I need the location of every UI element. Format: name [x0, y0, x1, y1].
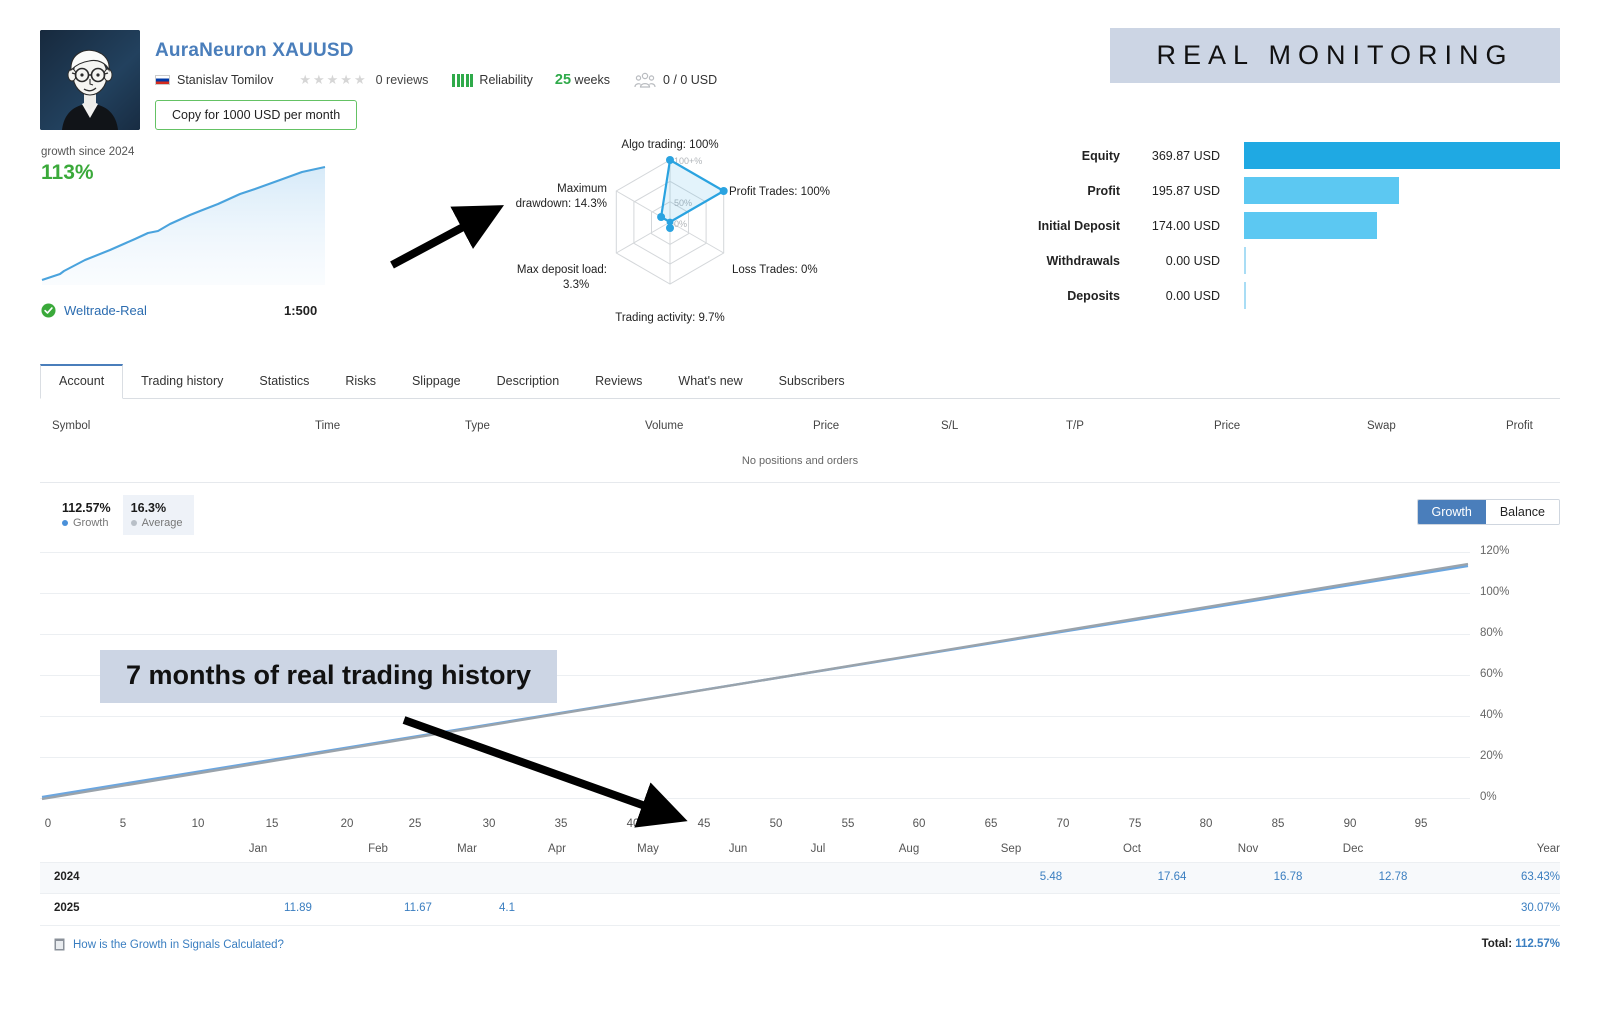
month-may: May [637, 843, 659, 855]
finance-value: 174.00 USD [1120, 219, 1244, 233]
tab-slippage[interactable]: Slippage [394, 365, 479, 398]
cell-2025-total: 30.07% [1521, 902, 1560, 914]
chart-legend: 112.57% Growth 16.3% Average [54, 495, 194, 535]
xtick-75: 75 [1129, 818, 1142, 830]
toggle-growth-button[interactable]: Growth [1418, 500, 1486, 524]
radar-label-trading-activity: Trading activity: 9.7% [615, 312, 725, 324]
radar-label-max-deposit-load-value: 3.3% [563, 279, 589, 291]
finance-bar [1244, 142, 1560, 169]
radar-label-loss-trades: Loss Trades: 0% [732, 264, 818, 276]
help-link-block[interactable]: How is the Growth in Signals Calculated? [54, 938, 284, 951]
legend-growth-name-row: Growth [62, 517, 111, 529]
chart-y-axis: 120% 100% 80% 60% 40% 20% 0% [1480, 537, 1560, 807]
col-volume[interactable]: Volume [645, 420, 683, 432]
finance-label: Withdrawals [1000, 254, 1120, 268]
finance-value: 195.87 USD [1120, 184, 1244, 198]
positions-table-header: Symbol Time Type Volume Price S/L T/P Pr… [40, 420, 1560, 442]
radar-point-algo-trading [666, 156, 674, 164]
table-row: 2024 5.48 17.64 16.78 12.78 63.43% [40, 862, 1560, 893]
finance-summary: Equity 369.87 USD Profit 195.87 USD Init… [1000, 138, 1560, 318]
monthly-growth-table: 2024 5.48 17.64 16.78 12.78 63.43% 2025 … [40, 862, 1560, 924]
reliability-label: Reliability [479, 73, 533, 87]
finance-bar-track [1244, 208, 1560, 243]
legend-average-name: Average [142, 517, 183, 529]
total-label: Total: [1482, 938, 1512, 950]
positions-empty-message: No positions and orders [0, 455, 1600, 467]
col-price-open[interactable]: Price [813, 420, 839, 432]
positions-divider [40, 482, 1560, 483]
tab-reviews[interactable]: Reviews [577, 365, 660, 398]
real-monitoring-banner: REAL MONITORING [1110, 28, 1560, 83]
reviews-count[interactable]: 0 reviews [376, 73, 429, 87]
author-name[interactable]: Stanislav Tomilov [177, 73, 273, 87]
rating-stars-icon: ★★★★★ [299, 72, 367, 88]
table-row: 2025 11.89 11.67 4.1 30.07% [40, 893, 1560, 924]
row-year-2025: 2025 [54, 902, 80, 914]
xtick-70: 70 [1057, 818, 1070, 830]
finance-row-withdrawals: Withdrawals 0.00 USD [1000, 243, 1560, 278]
finance-bar-track [1244, 173, 1560, 208]
subscribers-icon [634, 72, 656, 88]
finance-row-equity: Equity 369.87 USD [1000, 138, 1560, 173]
cell-2024-sep: 5.48 [1040, 871, 1062, 883]
tab-statistics[interactable]: Statistics [241, 365, 327, 398]
signal-page: AuraNeuron XAUUSD Stanislav Tomilov ★★★★… [0, 0, 1600, 1024]
month-nov: Nov [1238, 843, 1258, 855]
finance-label: Equity [1000, 149, 1120, 163]
cell-2025-feb: 11.67 [404, 902, 432, 914]
growth-sparkline [40, 160, 328, 285]
xtick-10: 10 [192, 818, 205, 830]
avatar [40, 30, 140, 130]
weeks-label: weeks [575, 73, 610, 87]
month-jun: Jun [729, 843, 748, 855]
legend-growth-value: 112.57% [62, 501, 111, 515]
cell-2024-dec: 12.78 [1379, 871, 1408, 883]
radar-label-profit-trades: Profit Trades: 100% [729, 186, 830, 198]
xtick-35: 35 [555, 818, 568, 830]
cell-2025-jan: 11.89 [284, 902, 312, 914]
chart-mode-toggle: Growth Balance [1417, 499, 1560, 525]
xtick-0: 0 [45, 818, 51, 830]
xtick-40: 40 [627, 818, 640, 830]
callout-banner: 7 months of real trading history [100, 650, 557, 703]
finance-bar-track [1244, 138, 1560, 173]
legend-average-name-row: Average [131, 517, 183, 529]
radar-label-maximum-drawdown-value: drawdown: 14.3% [516, 198, 607, 210]
finance-value: 0.00 USD [1120, 254, 1244, 268]
finance-label: Deposits [1000, 289, 1120, 303]
month-mar: Mar [457, 843, 477, 855]
finance-row-initial-deposit: Initial Deposit 174.00 USD [1000, 208, 1560, 243]
weeks-active: 25 weeks [555, 72, 610, 88]
chart-x-axis: 0 5 10 15 20 25 30 35 40 45 50 55 60 65 … [40, 818, 1470, 832]
finance-row-deposits: Deposits 0.00 USD [1000, 278, 1560, 313]
row-year-2024: 2024 [54, 871, 80, 883]
xtick-50: 50 [770, 818, 783, 830]
table-footer: How is the Growth in Signals Calculated?… [40, 925, 1560, 964]
radar-label-max-deposit-load: Max deposit load: [517, 264, 607, 276]
col-tp[interactable]: T/P [1066, 420, 1084, 432]
legend-item-average[interactable]: 16.3% Average [123, 495, 195, 535]
real-monitoring-label: REAL MONITORING [1156, 40, 1513, 71]
legend-average-value: 16.3% [131, 501, 183, 515]
col-time[interactable]: Time [315, 420, 340, 432]
xtick-90: 90 [1344, 818, 1357, 830]
finance-bar-track [1244, 278, 1560, 313]
finance-bar [1244, 212, 1377, 239]
growth-since-label: growth since 2024 [41, 146, 134, 158]
ytick-100: 100% [1480, 586, 1509, 598]
ytick-60: 60% [1480, 668, 1503, 680]
xtick-45: 45 [698, 818, 711, 830]
finance-row-profit: Profit 195.87 USD [1000, 173, 1560, 208]
leverage-value: 1:500 [284, 303, 317, 318]
tab-bar: Account Trading history Statistics Risks… [40, 358, 1560, 399]
month-dec: Dec [1343, 843, 1363, 855]
col-type[interactable]: Type [465, 420, 490, 432]
xtick-65: 65 [985, 818, 998, 830]
finance-bar [1244, 282, 1246, 309]
month-aug: Aug [899, 843, 919, 855]
xtick-5: 5 [120, 818, 126, 830]
finance-label: Profit [1000, 184, 1120, 198]
xtick-15: 15 [266, 818, 279, 830]
weeks-value: 25 [555, 72, 571, 88]
ytick-20: 20% [1480, 750, 1503, 762]
tab-trading-history[interactable]: Trading history [123, 365, 241, 398]
cell-2024-nov: 16.78 [1274, 871, 1303, 883]
ytick-0: 0% [1480, 791, 1497, 803]
subscribers-block: 0 / 0 USD [634, 72, 717, 88]
month-sep: Sep [1001, 843, 1021, 855]
finance-value: 0.00 USD [1120, 289, 1244, 303]
month-oct: Oct [1123, 843, 1141, 855]
xtick-20: 20 [341, 818, 354, 830]
tab-risks[interactable]: Risks [327, 365, 394, 398]
book-icon [54, 938, 65, 951]
header-meta: Stanislav Tomilov ★★★★★ 0 reviews Reliab… [155, 72, 717, 88]
radar-label-algo-trading: Algo trading: 100% [621, 139, 718, 151]
xtick-85: 85 [1272, 818, 1285, 830]
tab-account[interactable]: Account [40, 364, 123, 399]
month-jul: Jul [811, 843, 826, 855]
radar-point-trading-activity [666, 224, 674, 232]
callout-text: 7 months of real trading history [126, 660, 531, 690]
month-jan: Jan [249, 843, 268, 855]
legend-average-dot-icon [131, 520, 137, 526]
help-link[interactable]: How is the Growth in Signals Calculated? [73, 939, 284, 951]
xtick-25: 25 [409, 818, 422, 830]
broker-name[interactable]: Weltrade-Real [64, 303, 147, 318]
col-sl[interactable]: S/L [941, 420, 958, 432]
xtick-80: 80 [1200, 818, 1213, 830]
tab-description[interactable]: Description [479, 365, 578, 398]
finance-label: Initial Deposit [1000, 219, 1120, 233]
cell-2024-oct: 17.64 [1158, 871, 1187, 883]
finance-bar [1244, 177, 1399, 204]
radar-ring-label-0: 0% [674, 219, 687, 229]
col-price-current[interactable]: Price [1214, 420, 1240, 432]
chart-month-axis: Jan Feb Mar Apr May Jun Jul Aug Sep Oct … [40, 843, 1470, 857]
tab-subscribers[interactable]: Subscribers [761, 365, 863, 398]
legend-growth-dot-icon [62, 520, 68, 526]
month-axis-year-label: Year [1537, 843, 1560, 855]
col-swap[interactable]: Swap [1367, 420, 1396, 432]
russia-flag-icon [155, 75, 170, 85]
cell-2024-total: 63.43% [1521, 871, 1560, 883]
xtick-95: 95 [1415, 818, 1428, 830]
xtick-60: 60 [913, 818, 926, 830]
reliability-bars-icon [452, 74, 473, 87]
radar-point-maximum-drawdown [657, 213, 665, 221]
month-apr: Apr [548, 843, 566, 855]
month-feb: Feb [368, 843, 388, 855]
total-growth: Total: 112.57% [1482, 938, 1560, 950]
radar-chart: 100+% 50% 0% Algo trading: 100% Profit T… [480, 130, 880, 330]
reliability-indicator: Reliability [452, 73, 533, 87]
legend-growth-name: Growth [73, 517, 108, 529]
copy-subscribe-button[interactable]: Copy for 1000 USD per month [155, 100, 357, 130]
finance-bar-track [1244, 243, 1560, 278]
total-value: 112.57% [1515, 938, 1560, 950]
col-symbol[interactable]: Symbol [52, 420, 90, 432]
xtick-55: 55 [842, 818, 855, 830]
subscribers-count: 0 / 0 USD [663, 73, 717, 87]
verified-check-icon [41, 303, 56, 318]
ytick-120: 120% [1480, 545, 1509, 557]
finance-value: 369.87 USD [1120, 149, 1244, 163]
cell-2025-mar: 4.1 [499, 902, 515, 914]
ytick-80: 80% [1480, 627, 1503, 639]
toggle-balance-button[interactable]: Balance [1486, 500, 1559, 524]
ytick-40: 40% [1480, 709, 1503, 721]
col-profit[interactable]: Profit [1506, 420, 1533, 432]
radar-label-maximum-drawdown: Maximum [557, 183, 607, 195]
xtick-30: 30 [483, 818, 496, 830]
avatar-illustration-icon [40, 30, 140, 130]
radar-point-profit-trades [720, 187, 728, 195]
legend-item-growth[interactable]: 112.57% Growth [54, 495, 123, 535]
tab-whats-new[interactable]: What's new [660, 365, 760, 398]
page-title[interactable]: AuraNeuron XAUUSD [155, 40, 354, 62]
broker-block: Weltrade-Real [41, 303, 147, 318]
arrow-to-radar [392, 218, 480, 265]
finance-bar [1244, 247, 1246, 274]
